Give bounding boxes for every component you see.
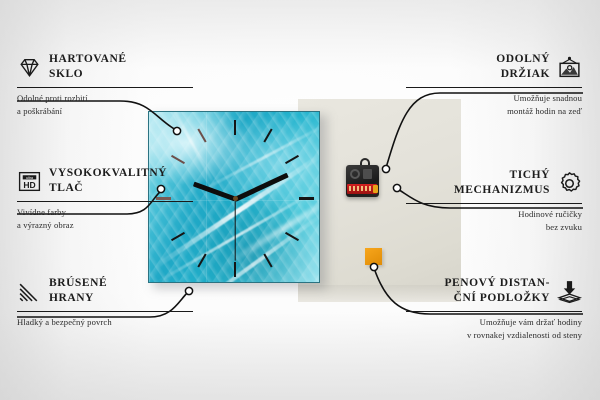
feature-title-line1: VYSOKOKVALITNÝ xyxy=(49,167,167,179)
feature-desc-line2: a poškrábání xyxy=(17,106,62,116)
feature-title: PENOVÝ DISTAN- ČNÍ PODLOŽKY xyxy=(444,276,550,306)
feature-divider xyxy=(17,201,193,202)
feature-header: HARTOVANÉ SKLO xyxy=(17,52,193,82)
feature-title-line2: MECHANIZMUS xyxy=(454,184,550,196)
feature-title-line1: TICHÝ xyxy=(510,169,550,181)
connector-dot-1 xyxy=(173,127,180,134)
ultra-hd-icon-main-label: HD xyxy=(23,179,35,189)
feature-desc-line2: a výrazný obraz xyxy=(17,220,74,230)
feature-description: Vivídne farby a výrazný obraz xyxy=(17,206,193,230)
feature-title: VYSOKOKVALITNÝ TLAČ xyxy=(49,166,167,196)
feature-title-line2: DRŽIAK xyxy=(501,68,550,80)
feature-description: Umožňuje snadnou montáž hodin na zeď xyxy=(406,92,582,116)
feature-title-line1: ODOLNÝ xyxy=(496,53,550,65)
feature-header: ultra HD VYSOKOKVALITNÝ TLAČ xyxy=(17,166,193,196)
feature-title: BRÚSENÉ HRANY xyxy=(49,276,107,306)
feature-divider xyxy=(17,311,193,312)
feature-divider xyxy=(406,311,582,312)
feature-desc-line1: Vivídne farby xyxy=(17,207,66,217)
foam-spacer-icon xyxy=(557,279,582,304)
feature-header: TICHÝ MECHANIZMUS xyxy=(406,168,582,198)
feature-title: ODOLNÝ DRŽIAK xyxy=(496,52,550,82)
feature-title-line1: HARTOVANÉ xyxy=(49,53,127,65)
gear-icon xyxy=(557,171,582,196)
ultra-hd-icon: ultra HD xyxy=(17,169,42,194)
feature-description: Odolné proti rozbití a poškrábání xyxy=(17,92,193,116)
feature-desc-line2: bez zvuku xyxy=(546,222,582,232)
feature-title: HARTOVANÉ SKLO xyxy=(49,52,127,82)
feature-header: PENOVÝ DISTAN- ČNÍ PODLOŽKY xyxy=(406,276,582,306)
beveled-edge-icon xyxy=(17,279,42,304)
feature-divider xyxy=(406,203,582,204)
feature-desc-line1: Hladký a bezpečný povrch xyxy=(17,317,112,327)
feature-description: Hladký a bezpečný povrch xyxy=(17,316,193,328)
connector-dot-5 xyxy=(393,184,400,191)
feature-title-line2: ČNÍ PODLOŽKY xyxy=(454,292,550,304)
feature-title-line2: TLAČ xyxy=(49,182,83,194)
feature-title-line2: HRANY xyxy=(49,292,94,304)
feature-description: Hodinové ručičky bez zvuku xyxy=(406,208,582,232)
feature-block-foam-spacers: PENOVÝ DISTAN- ČNÍ PODLOŽKY Umožňuje vám… xyxy=(406,276,582,341)
feature-divider xyxy=(406,87,582,88)
feature-desc-line1: Umožňuje vám držať hodiny xyxy=(480,317,582,327)
connector-dot-4 xyxy=(382,165,389,172)
feature-block-beveled-edges: BRÚSENÉ HRANY Hladký a bezpečný povrch xyxy=(17,276,193,329)
feature-desc-line2: v rovnakej vzdialenosti od steny xyxy=(467,330,582,340)
feature-title-line2: SKLO xyxy=(49,68,83,80)
feature-divider xyxy=(17,87,193,88)
feature-desc-line1: Umožňuje snadnou xyxy=(513,93,582,103)
feature-block-silent-mechanism: TICHÝ MECHANIZMUS Hodinové ručičky bez z… xyxy=(406,168,582,233)
feature-description: Umožňuje vám držať hodiny v rovnakej vzd… xyxy=(406,316,582,340)
feature-header: ODOLNÝ DRŽIAK xyxy=(406,52,582,82)
feature-desc-line1: Odolné proti rozbití xyxy=(17,93,88,103)
feature-header: BRÚSENÉ HRANY xyxy=(17,276,193,306)
picture-hanger-icon xyxy=(557,55,582,80)
clock-center-hub xyxy=(233,196,238,201)
infographic-canvas: HARTOVANÉ SKLO Odolné proti rozbití a po… xyxy=(0,0,600,400)
feature-block-durable-hanger: ODOLNÝ DRŽIAK Umožňuje snadnou montáž ho… xyxy=(406,52,582,117)
diamond-icon xyxy=(17,55,42,80)
feature-desc-line1: Hodinové ručičky xyxy=(518,209,582,219)
feature-block-high-quality-print: ultra HD VYSOKOKVALITNÝ TLAČ Vivídne far… xyxy=(17,166,193,231)
feature-desc-line2: montáž hodin na zeď xyxy=(507,106,582,116)
feature-title-line1: PENOVÝ DISTAN- xyxy=(444,277,550,289)
connector-dot-6 xyxy=(370,263,377,270)
feature-block-tempered-glass: HARTOVANÉ SKLO Odolné proti rozbití a po… xyxy=(17,52,193,117)
feature-title-line1: BRÚSENÉ xyxy=(49,277,107,289)
feature-title: TICHÝ MECHANIZMUS xyxy=(454,168,550,198)
